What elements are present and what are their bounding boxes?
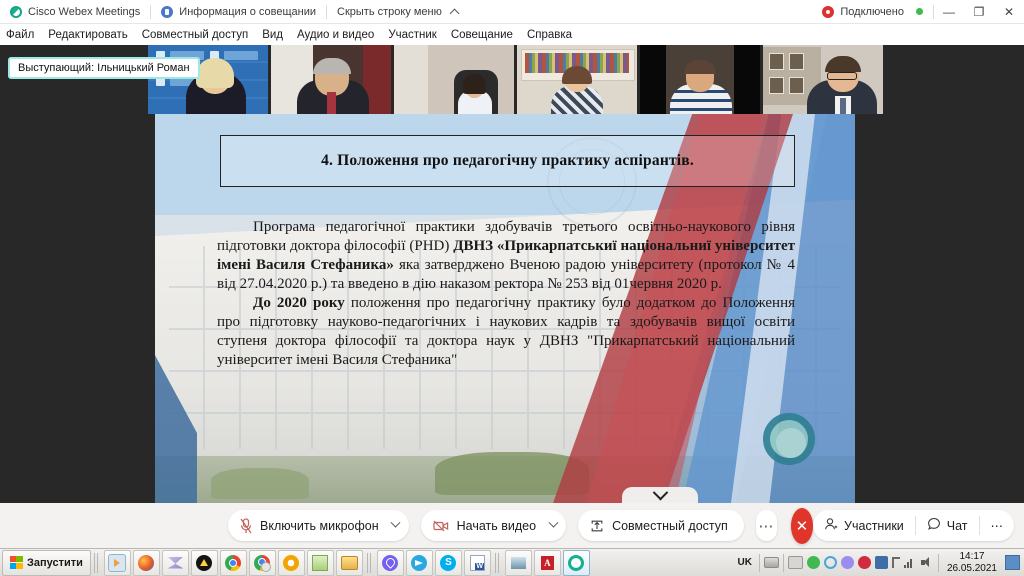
maximize-button[interactable]: ❐ xyxy=(964,0,994,24)
taskbar-app-chrome-canary[interactable] xyxy=(249,550,276,576)
taskbar-app-word[interactable]: W xyxy=(464,550,491,576)
taskbar-app-opera[interactable] xyxy=(278,550,305,576)
participant-hair xyxy=(313,58,351,74)
active-speaker-badge: Выступающий: Ільницький Роман xyxy=(8,57,200,79)
webex-icon xyxy=(568,555,584,571)
windows-taskbar: Запустити xyxy=(0,548,1024,576)
viber-tray-icon[interactable] xyxy=(841,556,854,569)
video-thumbnail-participant-3[interactable] xyxy=(394,45,514,114)
participants-button[interactable]: Участники xyxy=(813,516,916,535)
menubar: Файл Редактировать Совместный доступ Вид… xyxy=(0,24,1024,45)
slide-title-text: 4. Положення про педагогічну практику ас… xyxy=(321,152,694,170)
chevron-down-icon xyxy=(652,484,668,500)
taskbar-app-media-player[interactable] xyxy=(104,550,131,576)
network-manager-icon[interactable] xyxy=(875,556,888,569)
end-meeting-button[interactable]: ✕ xyxy=(791,508,813,544)
acrobat-icon: A xyxy=(541,556,554,570)
chevron-up-icon xyxy=(449,9,459,19)
media-player-icon xyxy=(108,554,126,572)
participant-tie xyxy=(327,92,336,114)
menu-item-view[interactable]: Вид xyxy=(255,29,290,41)
taskbar-app-aimp[interactable] xyxy=(191,550,218,576)
signal-icon[interactable] xyxy=(904,557,917,568)
video-thumbnail-participant-5[interactable] xyxy=(640,45,760,114)
chevron-down-icon xyxy=(391,518,401,528)
close-button[interactable]: ✕ xyxy=(994,0,1024,24)
taskbar-app-thunderbird[interactable] xyxy=(162,550,189,576)
mute-button[interactable]: Включить микрофон xyxy=(228,510,409,541)
app-title: Cisco Webex Meetings xyxy=(0,0,150,23)
share-screen-icon xyxy=(590,519,604,533)
connection-status-label: Подключено xyxy=(840,6,904,18)
share-content-label: Совместный доступ xyxy=(604,519,732,533)
chrome-icon xyxy=(225,555,241,571)
menu-item-file[interactable]: Файл xyxy=(0,29,41,41)
panels-more-button[interactable]: ⋯ xyxy=(980,516,1015,535)
start-button[interactable]: Запустити xyxy=(2,550,91,576)
chat-icon xyxy=(927,517,941,534)
menu-item-help[interactable]: Справка xyxy=(520,29,579,41)
taskbar-grip-3[interactable] xyxy=(495,553,501,573)
start-video-button[interactable]: Начать видео xyxy=(421,510,566,541)
taskbar-grip-2[interactable] xyxy=(367,553,373,573)
opera-icon xyxy=(283,555,299,571)
taskbar-app-scanner[interactable] xyxy=(505,550,532,576)
picture-frame xyxy=(789,53,804,70)
participant-tie xyxy=(840,98,846,114)
thumbnail-row xyxy=(148,45,883,114)
picture-frame xyxy=(769,77,784,94)
slide-paragraph-1: Програма педагогічної практики здобувачі… xyxy=(217,218,795,294)
taskbar-app-chrome[interactable] xyxy=(220,550,247,576)
chrome-canary-icon xyxy=(254,555,270,571)
chat-label: Чат xyxy=(947,519,968,533)
glasses-icon xyxy=(827,72,857,80)
taskbar-app-acrobat[interactable]: A xyxy=(534,550,561,576)
meeting-control-bar: Включить микрофон Начать видео Совместны… xyxy=(0,503,1024,548)
microphone-muted-icon xyxy=(240,518,252,534)
presentation-slide[interactable]: 4. Положення про педагогічну практику ас… xyxy=(155,114,855,503)
slide-body: Програма педагогічної практики здобувачі… xyxy=(217,218,795,370)
firefox-icon xyxy=(138,555,154,571)
participant-hair xyxy=(463,74,486,94)
menu-item-edit[interactable]: Редактировать xyxy=(41,29,134,41)
taskbar-app-firefox[interactable] xyxy=(133,550,160,576)
tray-divider-3 xyxy=(938,554,939,572)
picture-frame xyxy=(769,53,784,70)
hide-menubar-label: Скрыть строку меню xyxy=(337,6,442,18)
app-title-label: Cisco Webex Meetings xyxy=(28,6,140,18)
scanner-icon xyxy=(511,557,526,569)
menu-item-meeting[interactable]: Совещание xyxy=(444,29,520,41)
taskbar-app-explorer[interactable] xyxy=(336,550,363,576)
meeting-info-button[interactable]: Информация о совещании xyxy=(151,0,326,23)
language-indicator[interactable]: UK xyxy=(734,557,754,568)
status-dot-icon xyxy=(916,8,923,15)
flag-icon[interactable] xyxy=(892,557,900,568)
connection-status: Подключено xyxy=(812,0,933,23)
minimize-button[interactable]: — xyxy=(934,0,964,24)
slide-p2-bold: До 2020 року xyxy=(253,295,345,311)
video-thumbnail-participant-1[interactable] xyxy=(148,45,268,114)
participant-hair xyxy=(825,56,861,72)
video-thumbnail-strip: Выступающий: Ільницький Роман xyxy=(0,45,1024,114)
taskbar-app-notepad[interactable] xyxy=(307,550,334,576)
decor-circle-icon xyxy=(763,413,815,465)
video-thumbnail-participant-2[interactable] xyxy=(271,45,391,114)
info-icon xyxy=(161,6,173,18)
taskbar-clock[interactable]: 14:17 26.05.2021 xyxy=(943,551,1001,574)
camera-off-icon xyxy=(433,519,449,533)
opera-tray-icon[interactable] xyxy=(858,556,871,569)
taskbar-app-telegram[interactable] xyxy=(406,550,433,576)
share-content-button[interactable]: Совместный доступ xyxy=(578,510,744,541)
viber-icon xyxy=(382,555,398,571)
telegram-icon xyxy=(411,555,427,571)
chevron-down-icon xyxy=(548,518,558,528)
windows-logo-icon xyxy=(10,556,23,569)
show-desktop-icon[interactable] xyxy=(1005,555,1020,570)
printer-icon[interactable] xyxy=(788,556,803,569)
notepad-icon xyxy=(312,555,328,571)
webex-logo-icon xyxy=(10,6,22,18)
tray-divider-2 xyxy=(783,554,784,572)
participant-hair xyxy=(196,58,234,88)
window-titlebar: Cisco Webex Meetings Информация о совеща… xyxy=(0,0,1024,24)
tray-divider xyxy=(759,554,760,572)
clock-time: 14:17 xyxy=(959,551,984,563)
hide-menubar-button[interactable]: Скрыть строку меню xyxy=(327,0,468,23)
more-options-button[interactable]: ⋯ xyxy=(756,510,777,541)
taskbar-app-webex[interactable] xyxy=(563,550,590,576)
bush-shape xyxy=(211,468,309,499)
volume-icon[interactable] xyxy=(921,557,934,568)
record-icon xyxy=(822,6,834,18)
explorer-icon xyxy=(341,556,358,570)
slide-paragraph-2: До 2020 року положення про педагогічну п… xyxy=(217,294,795,370)
menu-item-audiovideo[interactable]: Аудио и видео xyxy=(290,29,381,41)
sync-icon[interactable] xyxy=(824,556,837,569)
start-video-label: Начать видео xyxy=(449,519,540,533)
taskbar-grip[interactable] xyxy=(94,553,100,573)
slide-title-box: 4. Положення про педагогічну практику ас… xyxy=(220,135,795,187)
participants-label: Участники xyxy=(844,519,904,533)
picture-frame xyxy=(789,77,804,94)
mute-options-caret[interactable] xyxy=(383,510,409,541)
system-tray: UK 14:17 26.05.2021 xyxy=(734,549,1024,576)
skype-icon: S xyxy=(440,555,456,571)
word-icon: W xyxy=(470,555,485,571)
taskbar-app-skype[interactable]: S xyxy=(435,550,462,576)
taskbar-app-viber[interactable] xyxy=(377,550,404,576)
video-thumbnail-participant-4[interactable] xyxy=(517,45,637,114)
menu-item-share[interactable]: Совместный доступ xyxy=(135,29,255,41)
clock-date: 26.05.2021 xyxy=(947,563,997,575)
mute-button-label: Включить микрофон xyxy=(252,519,383,533)
antivirus-icon[interactable] xyxy=(807,556,820,569)
meeting-info-label: Информация о совещании xyxy=(179,6,316,18)
collapse-toolbar-handle[interactable] xyxy=(622,487,698,503)
thunderbird-icon xyxy=(167,557,183,569)
thumb-background-left xyxy=(394,45,428,114)
shared-content-stage: 4. Положення про педагогічну практику ас… xyxy=(0,114,1024,503)
decor-card xyxy=(224,51,258,60)
aimp-icon xyxy=(196,555,212,571)
chat-button[interactable]: Чат xyxy=(916,516,980,535)
video-thumbnail-participant-6[interactable] xyxy=(763,45,883,114)
titlebar-right-group: Подключено — ❐ ✕ xyxy=(812,0,1024,23)
meeting-panels-group: Участники Чат ⋯ xyxy=(813,510,1014,541)
menu-item-participant[interactable]: Участник xyxy=(381,29,444,41)
keyboard-icon[interactable] xyxy=(764,557,779,568)
participants-icon xyxy=(824,517,838,534)
video-options-caret[interactable] xyxy=(540,510,566,541)
start-button-label: Запустити xyxy=(27,557,83,569)
